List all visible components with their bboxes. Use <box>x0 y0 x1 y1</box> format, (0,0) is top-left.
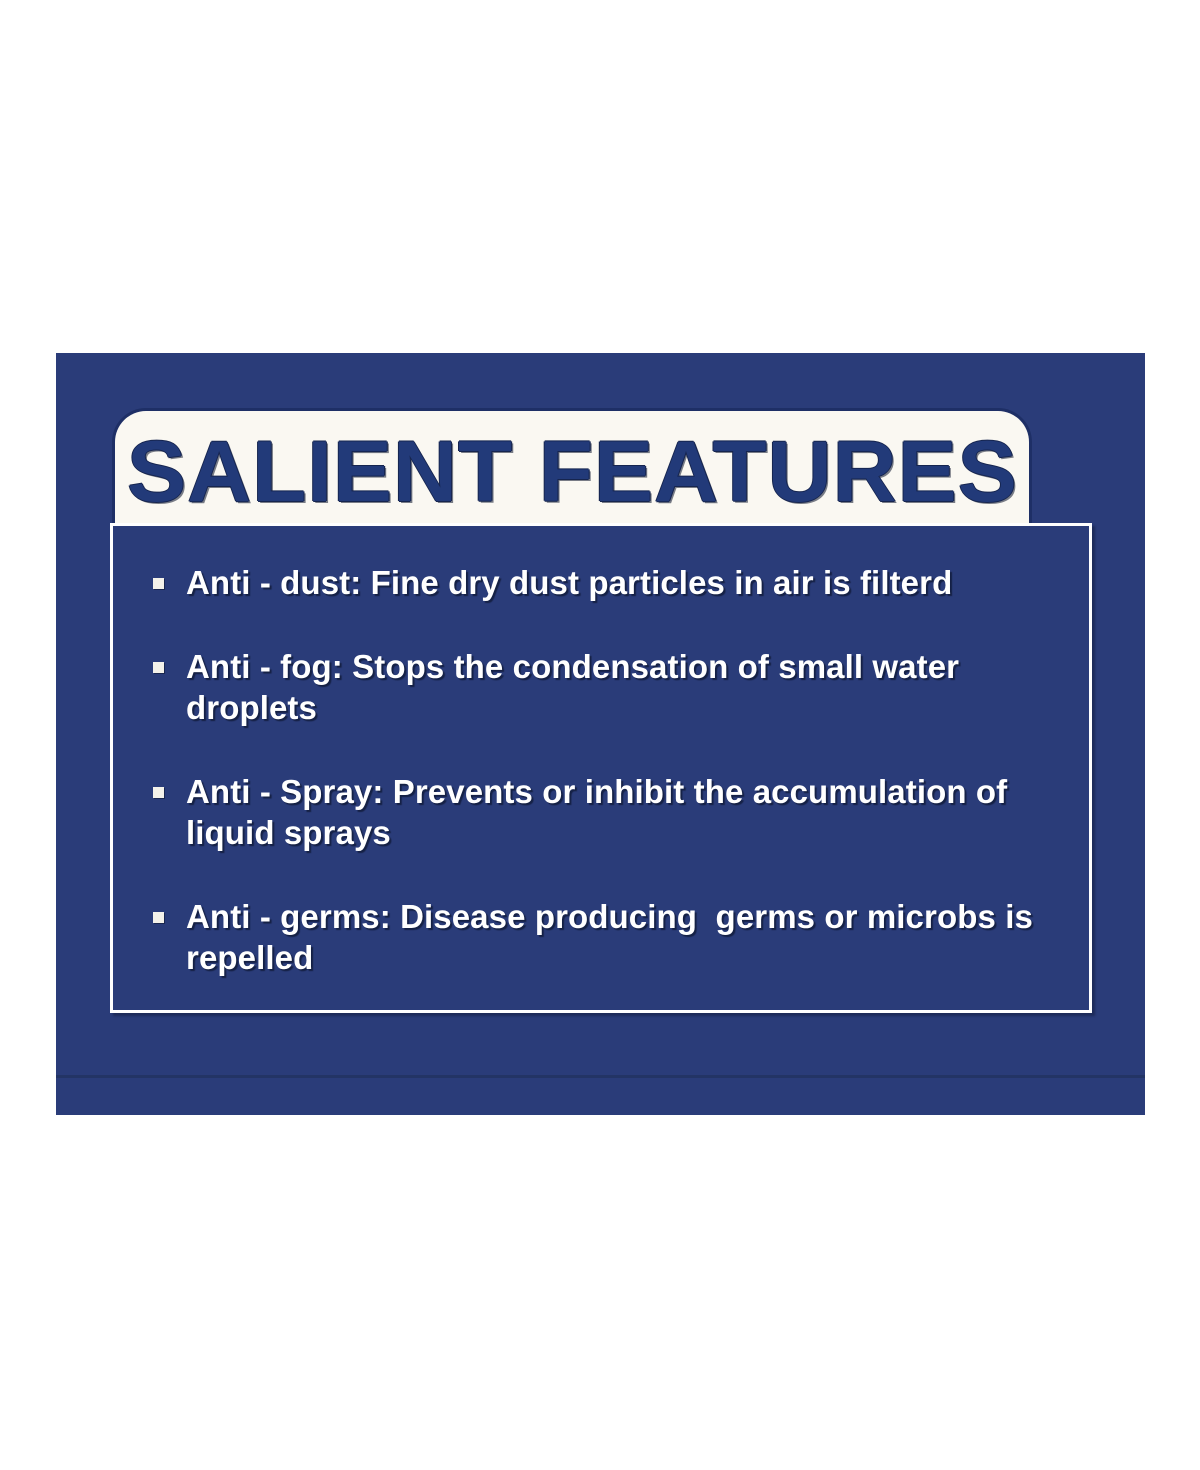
feature-text: Anti - fog: Stops the condensation of sm… <box>186 646 1056 729</box>
bullet-square-icon <box>153 662 164 673</box>
features-list: Anti - dust: Fine dry dust particles in … <box>113 526 1089 979</box>
salient-features-slide: SALIENT FEATURES Anti - dust: Fine dry d… <box>56 353 1145 1115</box>
bullet-square-icon <box>153 787 164 798</box>
feature-text: Anti - germs: Disease producing germs or… <box>186 896 1056 979</box>
feature-text: Anti - dust: Fine dry dust particles in … <box>186 562 952 604</box>
page-title: SALIENT FEATURES <box>127 429 1018 515</box>
title-plate: SALIENT FEATURES <box>112 408 1032 523</box>
list-item: Anti - Spray: Prevents or inhibit the ac… <box>153 771 1059 854</box>
list-item: Anti - dust: Fine dry dust particles in … <box>153 562 1059 604</box>
list-item: Anti - fog: Stops the condensation of sm… <box>153 646 1059 729</box>
bullet-square-icon <box>153 912 164 923</box>
list-item: Anti - germs: Disease producing germs or… <box>153 896 1059 979</box>
bullet-square-icon <box>153 578 164 589</box>
feature-text: Anti - Spray: Prevents or inhibit the ac… <box>186 771 1056 854</box>
features-panel: Anti - dust: Fine dry dust particles in … <box>110 523 1092 1013</box>
footer-divider <box>56 1075 1145 1078</box>
